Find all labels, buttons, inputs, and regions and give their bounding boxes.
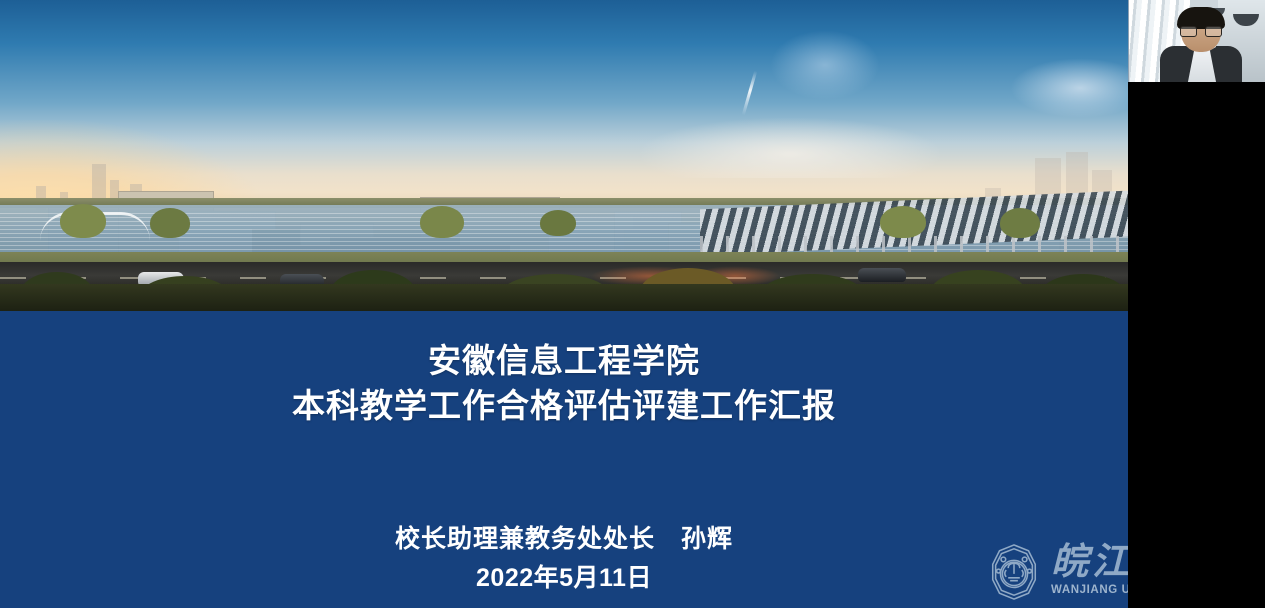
cloud-wisp-left — [770, 30, 880, 100]
presentation-date: 2022年5月11日 — [0, 558, 1128, 598]
slide-title-line-1: 安徽信息工程学院 — [0, 338, 1128, 383]
slide-photo-banner — [0, 0, 1128, 311]
screen-root: ▪ ▪ ▪ ▪ ▪ ▪ ▪▪▪ ▪▪ ▪ ▪▪▪▪▪▪ ▪▪▪ ▪▪▪▪ — [0, 0, 1265, 608]
webcam-left-edge — [1128, 0, 1129, 82]
foreground-foliage-mass — [0, 284, 1128, 311]
contrail-streak — [742, 70, 758, 115]
presenter-glasses-icon — [1180, 26, 1222, 35]
slide-presenter-block: 校长助理兼教务处处长 孙辉 2022年5月11日 — [0, 520, 1128, 598]
university-seal-icon — [985, 543, 1043, 601]
shared-presentation-slide[interactable]: 安徽信息工程学院 本科教学工作合格评估评建工作汇报 校长助理兼教务处处长 孙辉 … — [0, 0, 1128, 608]
slide-text-panel: 安徽信息工程学院 本科教学工作合格评估评建工作汇报 校长助理兼教务处处长 孙辉 … — [0, 311, 1128, 608]
slide-title-block: 安徽信息工程学院 本科教学工作合格评估评建工作汇报 — [0, 338, 1128, 428]
presenter-figure — [1164, 10, 1238, 82]
cloud-wisp-right — [1010, 58, 1128, 118]
presenter-name-and-title: 校长助理兼教务处处长 孙辉 — [0, 520, 1128, 558]
presenter-webcam-video[interactable] — [1128, 0, 1265, 82]
slide-title-line-2: 本科教学工作合格评估评建工作汇报 — [0, 383, 1128, 428]
letterbox-right-black — [1128, 82, 1265, 608]
midground-trees — [0, 196, 1128, 236]
